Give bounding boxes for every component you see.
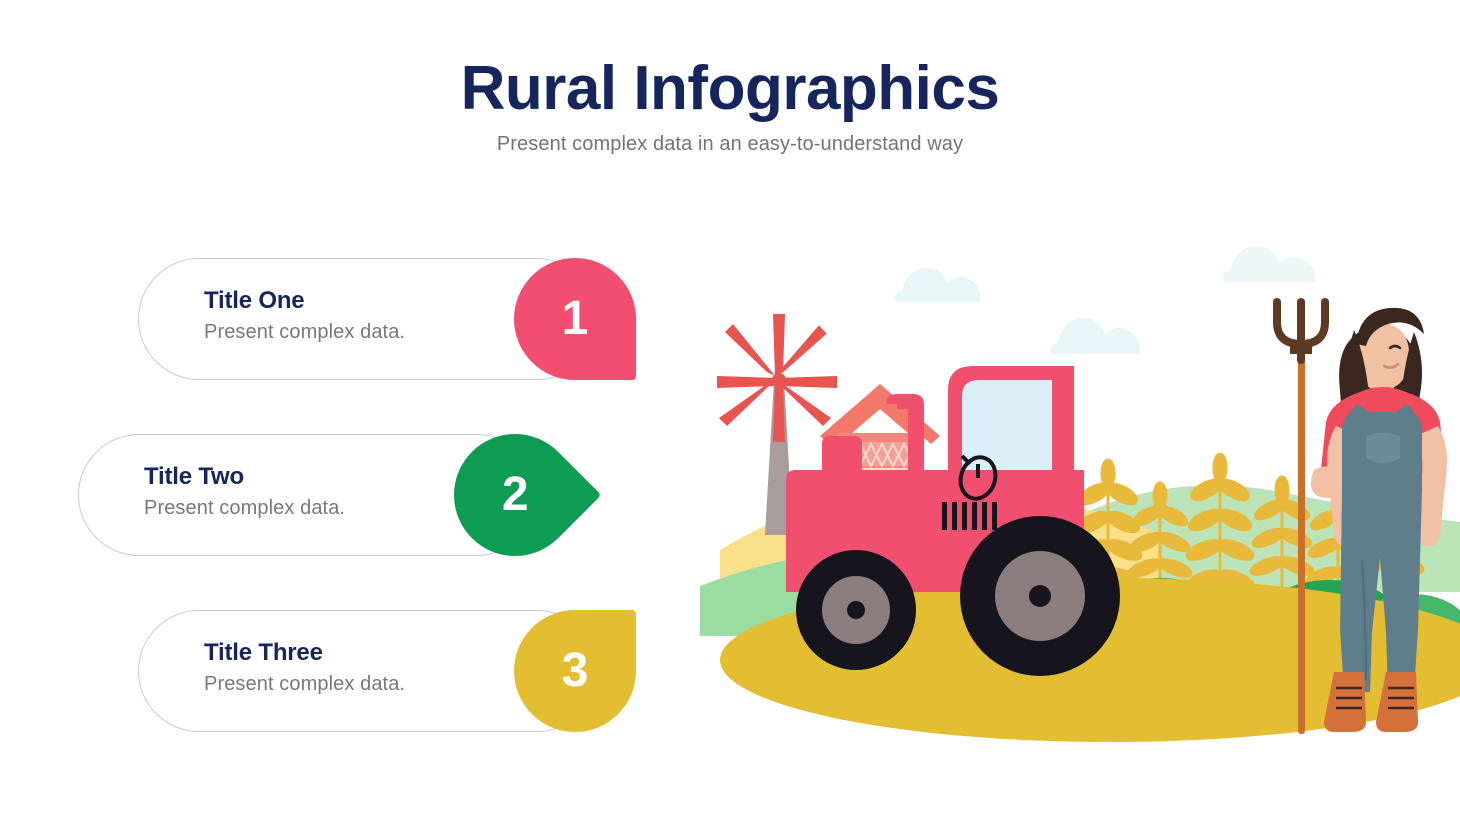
card-number-1: 1	[562, 295, 589, 343]
header: Rural Infographics Present complex data …	[0, 56, 1460, 156]
card-description-2: Present complex data.	[144, 497, 474, 520]
tractor-wheel-rear	[796, 550, 916, 670]
cloud-icon	[1050, 318, 1140, 354]
page-title: Rural Infographics	[0, 56, 1460, 121]
card-text-3: Title Three Present complex data.	[204, 638, 534, 696]
cloud-icon	[1222, 246, 1315, 282]
card-item-1[interactable]: 1 Title One Present complex data.	[138, 258, 598, 380]
card-item-2[interactable]: 2 Title Two Present complex data.	[78, 434, 538, 556]
card-number-2: 2	[502, 471, 529, 519]
card-number-3: 3	[562, 647, 589, 695]
tractor-wheel-front	[960, 516, 1120, 676]
slide-canvas: Rural Infographics Present complex data …	[0, 0, 1460, 821]
card-title-3: Title Three	[204, 638, 534, 668]
card-item-3[interactable]: 3 Title Three Present complex data.	[138, 610, 598, 732]
card-title-1: Title One	[204, 286, 534, 316]
farm-illustration	[690, 230, 1460, 750]
cloud-icon	[894, 268, 980, 302]
card-text-2: Title Two Present complex data.	[144, 462, 474, 520]
card-title-2: Title Two	[144, 462, 474, 492]
card-text-1: Title One Present complex data.	[204, 286, 534, 344]
page-subtitle: Present complex data in an easy-to-under…	[0, 133, 1460, 156]
infographic-cards: 1 Title One Present complex data. 2 Titl…	[0, 258, 700, 758]
card-description-1: Present complex data.	[204, 321, 534, 344]
card-description-3: Present complex data.	[204, 673, 534, 696]
